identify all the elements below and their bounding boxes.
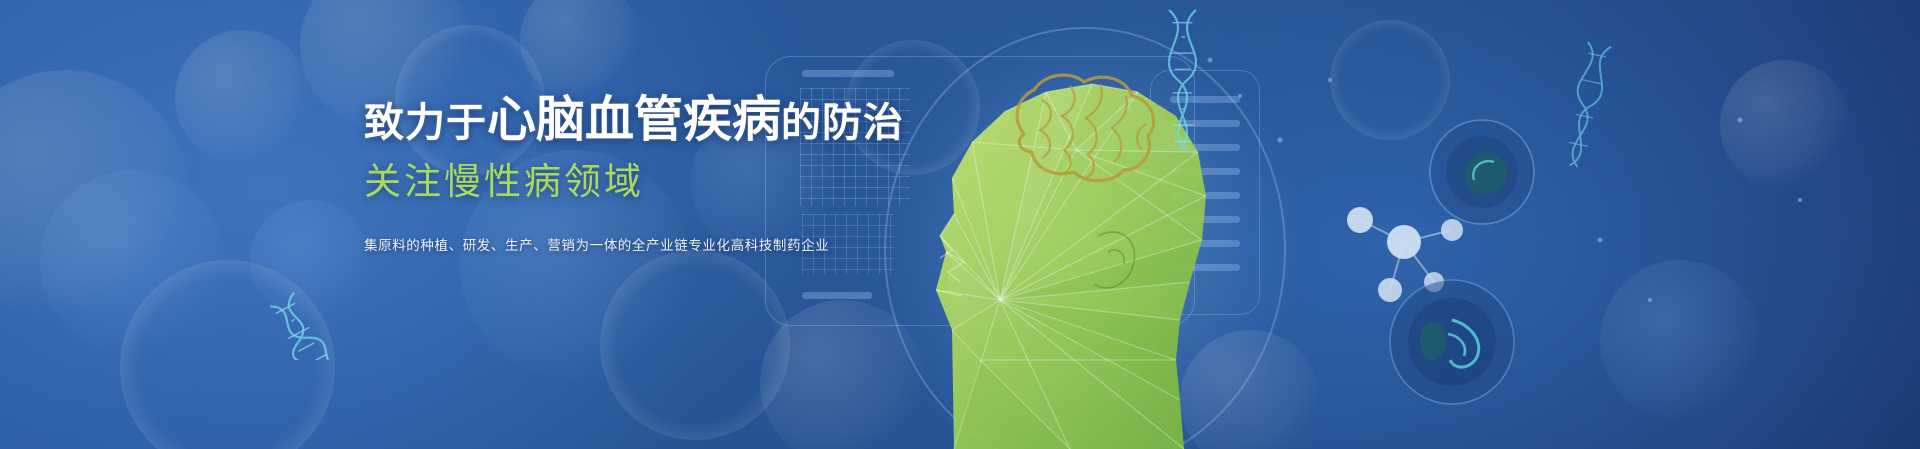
bokeh-circle: [520, 0, 640, 100]
dna-helix: [1562, 42, 1611, 169]
molecule-atom: [1441, 219, 1463, 241]
headline-prefix: 致力于: [364, 101, 487, 145]
molecule-atom: [1378, 278, 1402, 302]
page-title: 致力于心脑血管疾病的防治: [364, 92, 1124, 150]
molecule-atom: [1387, 225, 1421, 259]
bokeh-circle: [0, 70, 190, 320]
bokeh-circle: [40, 170, 225, 355]
hero-banner: 致力于心脑血管疾病的防治 关注慢性病领域 集原料的种植、研发、生产、营销为一体的…: [0, 0, 1920, 449]
headline-emphasis: 心脑血管疾病: [487, 93, 781, 147]
page-subtitle: 关注慢性病领域: [364, 160, 1124, 204]
banner-copy: 致力于心脑血管疾病的防治 关注慢性病领域 集原料的种植、研发、生产、营销为一体的…: [364, 92, 1124, 254]
molecule-atom: [1347, 207, 1373, 233]
dna-helix-left: [270, 250, 420, 360]
bokeh-circle: [175, 30, 310, 165]
cell-blob: [1390, 280, 1514, 404]
cell-blob: [1430, 120, 1534, 224]
page-tagline: 集原料的种植、研发、生产、营销为一体的全产业链专业化高科技制药企业: [364, 234, 1124, 254]
headline-suffix: 的防治: [781, 101, 904, 145]
